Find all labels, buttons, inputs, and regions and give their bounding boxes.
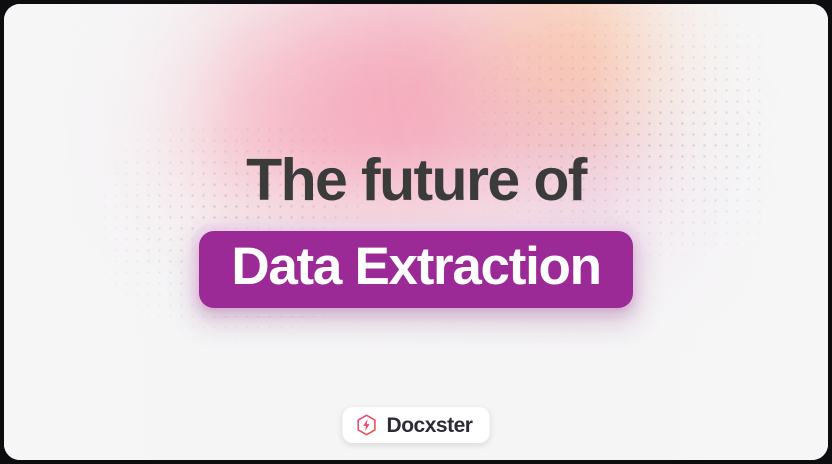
hero-headline-line-1: The future of	[4, 150, 828, 210]
docxster-logo-pill[interactable]: Docxster	[343, 407, 490, 443]
hero-badge: Data Extraction	[199, 231, 632, 308]
docxster-hexagon-bolt-icon	[356, 414, 378, 436]
hero-card: The future of Data Extraction	[4, 4, 828, 460]
hero-content: The future of Data Extraction	[4, 150, 828, 316]
hero-badge-label: Data Extraction	[231, 237, 600, 296]
hero-badge-container: Data Extraction	[4, 223, 828, 316]
hero-badge-glow: Data Extraction	[191, 223, 640, 316]
screenshot-stage: The future of Data Extraction	[0, 0, 832, 464]
docxster-wordmark: Docxster	[387, 415, 473, 436]
